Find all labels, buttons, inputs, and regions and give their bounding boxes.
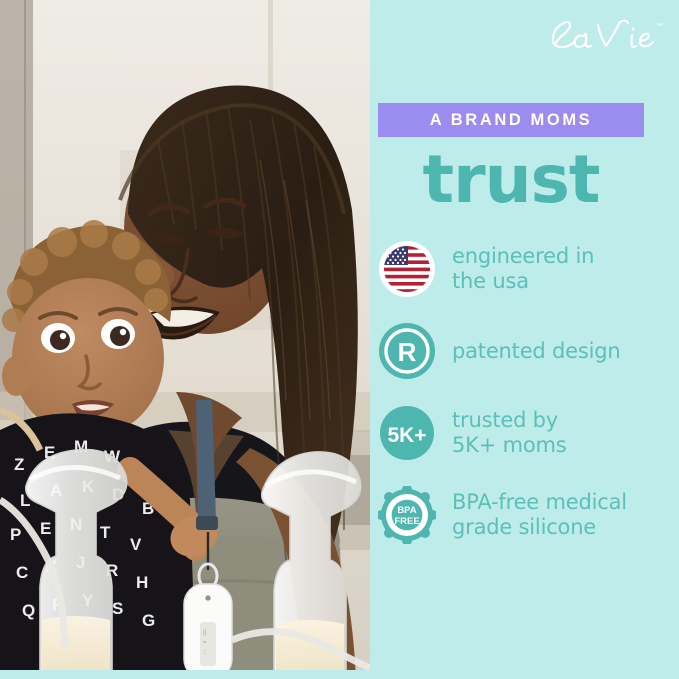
product-marketing-image: ZEM WXL AKD BPE NTV CXJ RHQ FYS G <box>0 0 679 679</box>
brand-banner: A BRAND MOMS <box>378 103 644 137</box>
svg-text:=: = <box>203 640 207 646</box>
usa-flag-circle-icon <box>378 240 436 298</box>
feature-line-1: BPA-free medical <box>452 490 627 515</box>
badge-line-1: BPA <box>397 505 416 516</box>
svg-text:E: E <box>40 519 51 538</box>
svg-text:Z: Z <box>14 455 24 474</box>
feature-text: BPA-free medical grade silicone <box>452 490 627 540</box>
five-k-plus-badge-icon: 5K+ <box>378 404 436 462</box>
badge-label: 5K+ <box>387 424 426 447</box>
banner-text: A BRAND MOMS <box>430 111 593 130</box>
info-panel: ™ A BRAND MOMS trust <box>370 0 679 679</box>
svg-text:V: V <box>130 535 142 554</box>
trademark-symbol: ™ <box>656 23 663 30</box>
feature-line-2: 5K+ moms <box>452 433 567 458</box>
svg-text:R: R <box>398 337 417 367</box>
feature-bpa-free-silicone: BPA FREE BPA-free medical grade silicone <box>378 486 679 544</box>
feature-trusted-by-moms: 5K+ trusted by 5K+ moms <box>378 404 679 462</box>
svg-text:Q: Q <box>22 601 35 620</box>
feature-text: engineered in the usa <box>452 244 594 294</box>
lifestyle-photo: ZEM WXL AKD BPE NTV CXJ RHQ FYS G <box>0 0 370 679</box>
bpa-free-seal-icon: BPA FREE <box>378 486 436 544</box>
feature-text: trusted by 5K+ moms <box>452 408 567 458</box>
svg-text:::: :: <box>203 650 207 656</box>
feature-line-2: the usa <box>452 269 594 294</box>
feature-engineered-in-usa: engineered in the usa <box>378 240 679 298</box>
page-title: trust <box>378 143 644 217</box>
photo-illustration: ZEM WXL AKD BPE NTV CXJ RHQ FYS G <box>0 0 370 679</box>
svg-text:T: T <box>100 523 111 542</box>
svg-text:||: || <box>203 630 207 636</box>
feature-line-1: patented design <box>452 339 621 364</box>
svg-text:C: C <box>16 563 28 582</box>
registered-trademark-icon: R <box>378 322 436 380</box>
feature-list: engineered in the usa R patented design <box>378 240 679 568</box>
feature-line-2: grade silicone <box>452 515 627 540</box>
feature-line-1: trusted by <box>452 408 567 433</box>
feature-text: patented design <box>452 339 621 364</box>
feature-patented-design: R patented design <box>378 322 679 380</box>
badge-line-2: FREE <box>394 516 419 527</box>
lavie-logo: ™ <box>546 16 666 56</box>
feature-line-1: engineered in <box>452 244 594 269</box>
svg-text:G: G <box>142 611 155 630</box>
svg-text:P: P <box>10 525 21 544</box>
svg-text:H: H <box>136 573 148 592</box>
svg-text:S: S <box>112 599 123 618</box>
lavie-logo-script: ™ <box>546 16 666 56</box>
